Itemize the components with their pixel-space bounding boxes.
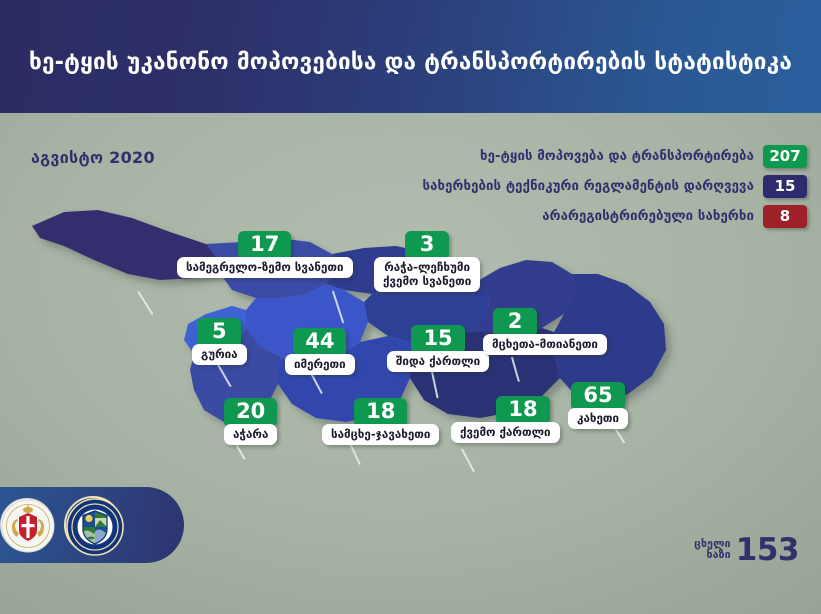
- region-count: 18: [496, 396, 549, 425]
- region-count: 18: [354, 398, 407, 427]
- page-title: ხე-ტყის უკანონო მოპოვებისა და ტრანსპორტი…: [0, 0, 821, 113]
- date-label: აგვისტო 2020: [31, 148, 155, 167]
- legend-label: ხე-ტყის მოპოვება და ტრანსპორტირება: [480, 149, 754, 164]
- map-svg: [20, 198, 720, 498]
- region-name: სამეგრელო-ზემო სვანეთი: [177, 257, 353, 278]
- region-marker-adjara[interactable]: 20 აჭარა: [224, 398, 277, 445]
- hotline: ცხელი ხაზი 153: [694, 532, 799, 568]
- region-marker-samegrelo[interactable]: 17 სამეგრელო-ზემო სვანეთი: [177, 231, 353, 278]
- hotline-number: 153: [736, 532, 799, 568]
- region-count: 2: [493, 308, 537, 337]
- georgia-map: [20, 198, 720, 498]
- region-name: აჭარა: [224, 424, 277, 445]
- region-count: 44: [293, 328, 346, 357]
- region-name: ქვემო ქართლი: [451, 422, 560, 443]
- region-marker-kvemo-kartli[interactable]: 18 ქვემო ქართლი: [451, 396, 560, 443]
- footer-logo-pill: [0, 487, 184, 563]
- region-count: 5: [197, 318, 241, 347]
- region-marker-racha[interactable]: 3 რაჭა-ლეჩხუმი ქვემო სვანეთი: [374, 231, 480, 292]
- region-marker-kakheti[interactable]: 65 კახეთი: [568, 382, 628, 429]
- infographic-page: ხე-ტყის უკანონო მოპოვებისა და ტრანსპორტი…: [0, 0, 821, 614]
- region-count: 65: [571, 382, 624, 411]
- environmental-supervision-seal-icon: [64, 496, 122, 554]
- region-name: სამცხე-ჯავახეთი: [322, 424, 439, 445]
- region-count: 15: [411, 325, 464, 354]
- georgia-coat-of-arms-icon: [0, 498, 54, 552]
- region-marker-guria[interactable]: 5 გურია: [192, 318, 247, 365]
- region-name: იმერეთი: [285, 354, 355, 375]
- region-name: კახეთი: [568, 408, 628, 429]
- hotline-label: ცხელი ხაზი: [694, 539, 731, 561]
- region-marker-imereti[interactable]: 44 იმერეთი: [285, 328, 355, 375]
- region-name: მცხეთა-მთიანეთი: [483, 334, 607, 355]
- region-count: 17: [238, 231, 291, 260]
- region-name: გურია: [192, 344, 247, 365]
- legend-value-badge: 8: [763, 205, 807, 228]
- legend-item-violation: ხე-ტყის მოპოვება და ტრანსპორტირება 207: [387, 143, 807, 169]
- legend-item-sawmill-regulation: სახერხების ტექნიკური რეგლამენტის დარღვევ…: [387, 173, 807, 199]
- region-marker-shida-kartli[interactable]: 15 შიდა ქართლი: [387, 325, 489, 372]
- region-name: რაჭა-ლეჩხუმი ქვემო სვანეთი: [374, 257, 480, 292]
- region-marker-mtskheta-mtianeti[interactable]: 2 მცხეთა-მთიანეთი: [483, 308, 607, 355]
- legend-value-badge: 207: [763, 145, 807, 168]
- legend-value-badge: 15: [763, 175, 807, 198]
- region-count: 20: [224, 398, 277, 427]
- region-count: 3: [405, 231, 449, 260]
- seal-svg: [66, 498, 124, 556]
- legend-label: სახერხების ტექნიკური რეგლამენტის დარღვევ…: [423, 179, 754, 194]
- coat-of-arms-svg: [1, 499, 55, 553]
- region-name: შიდა ქართლი: [387, 351, 489, 372]
- region-marker-samtskhe-javakheti[interactable]: 18 სამცხე-ჯავახეთი: [322, 398, 439, 445]
